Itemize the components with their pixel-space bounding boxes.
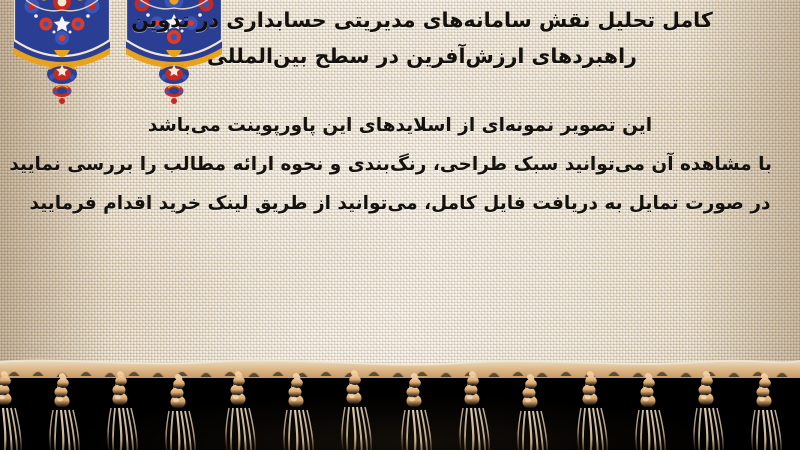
slide-body-line-2: با مشاهده آن می‌توانید سبک طراحی، رنگ‌بن… bbox=[28, 145, 772, 184]
slide-title: کامل تحلیل نقش سامانه‌های مدیریتی حسابدا… bbox=[72, 2, 772, 74]
slide-body-line-1: این تصویر نمونه‌ای از اسلایدهای این پاور… bbox=[28, 106, 772, 145]
black-ground-background bbox=[0, 372, 800, 450]
slide-title-line-2: راهبردهای ارزش‌آفرین در سطح بین‌المللی bbox=[72, 38, 772, 74]
slide-body-text: این تصویر نمونه‌ای از اسلایدهای این پاور… bbox=[28, 106, 772, 223]
slide-canvas: کامل تحلیل نقش سامانه‌های مدیریتی حسابدا… bbox=[0, 0, 800, 450]
slide-body-line-3: در صورت تمایل به دریافت فایل کامل، می‌تو… bbox=[28, 184, 772, 223]
slide-title-line-1: کامل تحلیل نقش سامانه‌های مدیریتی حسابدا… bbox=[72, 2, 772, 38]
